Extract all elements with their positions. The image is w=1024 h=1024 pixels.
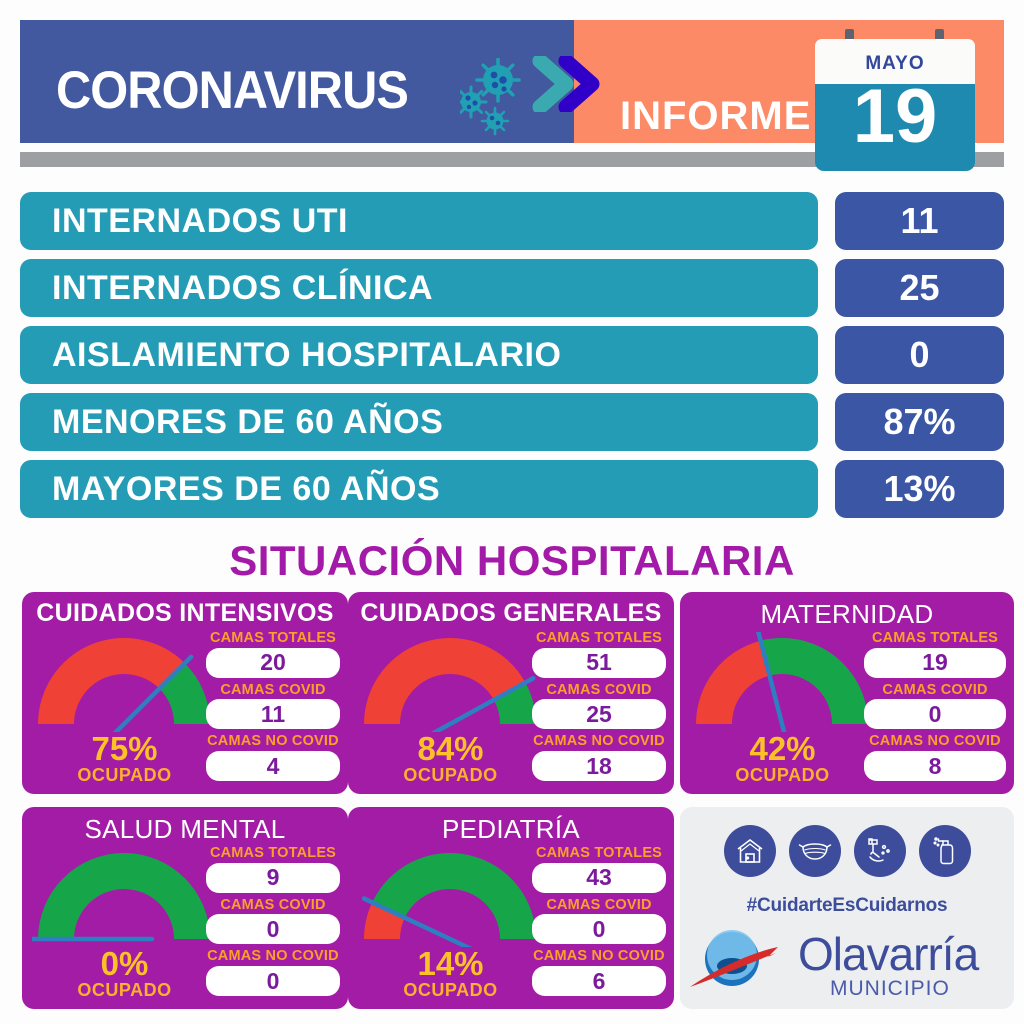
- calendar-day: 19: [815, 79, 975, 155]
- metric-value-totales: 20: [206, 648, 340, 678]
- spray-bottle-icon: [919, 825, 971, 877]
- metric-label-no-covid: CAMAS NO COVID: [206, 733, 340, 750]
- stat-label: INTERNADOS UTI: [20, 192, 818, 250]
- metric-value-covid: 0: [206, 914, 340, 944]
- gauge-percent-caption: OCUPADO: [358, 765, 543, 786]
- face-mask-icon: [789, 825, 841, 877]
- calendar-icon: MAYO 19: [815, 27, 975, 171]
- brand-subtitle: MUNICIPIO: [830, 977, 950, 1001]
- gauge-card-title: CUIDADOS INTENSIVOS: [22, 599, 348, 628]
- metric-value-no-covid: 4: [206, 751, 340, 781]
- gauge-card: CUIDADOS INTENSIVOS 75% OCUPADO CAMAS TO…: [22, 592, 348, 794]
- virus-icon: [460, 58, 540, 138]
- metric-label-covid: CAMAS COVID: [532, 897, 666, 914]
- stat-value: 87%: [835, 393, 1004, 451]
- brand-name: Olavarría: [798, 931, 978, 977]
- metric-label-covid: CAMAS COVID: [206, 682, 340, 699]
- chevron-blue-icon: [558, 56, 602, 117]
- gauge-percent: 75%: [32, 732, 217, 765]
- stat-row: MAYORES DE 60 AÑOS 13%: [20, 460, 1004, 518]
- gauge-percent-caption: OCUPADO: [32, 765, 217, 786]
- metric-label-totales: CAMAS TOTALES: [206, 630, 340, 647]
- metric-label-no-covid: CAMAS NO COVID: [206, 948, 340, 965]
- gauge-percent-caption: OCUPADO: [358, 980, 543, 1001]
- gauge-metrics: CAMAS TOTALES 19 CAMAS COVID 0 CAMAS NO …: [864, 630, 1006, 785]
- gauge-percent-caption: OCUPADO: [690, 765, 875, 786]
- gauge-chart: [32, 847, 217, 947]
- hashtag-slogan: #CuidarteEsCuidarnos: [680, 895, 1014, 917]
- metric-label-no-covid: CAMAS NO COVID: [864, 733, 1006, 750]
- gauge-metrics: CAMAS TOTALES 9 CAMAS COVID 0 CAMAS NO C…: [206, 845, 340, 1000]
- gauge-chart: [690, 632, 875, 732]
- stat-row: INTERNADOS UTI 11: [20, 192, 1004, 250]
- page-title: CORONAVIRUS: [56, 64, 408, 117]
- gauge-card-title: SALUD MENTAL: [22, 814, 348, 845]
- metric-value-totales: 43: [532, 863, 666, 893]
- metric-value-totales: 19: [864, 648, 1006, 678]
- prevention-icon-row: [680, 825, 1014, 877]
- metric-value-no-covid: 8: [864, 751, 1006, 781]
- metric-label-totales: CAMAS TOTALES: [532, 845, 666, 862]
- metric-label-totales: CAMAS TOTALES: [864, 630, 1006, 647]
- metric-value-covid: 11: [206, 699, 340, 729]
- gauge-card: MATERNIDAD 42% OCUPADO CAMAS TOTALES 19 …: [680, 592, 1014, 794]
- olavarria-logo: Olavarría MUNICIPIO: [680, 925, 1014, 1001]
- stat-label: MENORES DE 60 AÑOS: [20, 393, 818, 451]
- gauge-card-title: MATERNIDAD: [680, 599, 1014, 630]
- metric-label-totales: CAMAS TOTALES: [206, 845, 340, 862]
- stat-value: 0: [835, 326, 1004, 384]
- metric-label-no-covid: CAMAS NO COVID: [532, 733, 666, 750]
- metric-value-no-covid: 0: [206, 966, 340, 996]
- gauge-metrics: CAMAS TOTALES 20 CAMAS COVID 11 CAMAS NO…: [206, 630, 340, 785]
- gauge-card: CUIDADOS GENERALES 84% OCUPADO CAMAS TOT…: [348, 592, 674, 794]
- gauge-card: SALUD MENTAL 0% OCUPADO CAMAS TOTALES 9 …: [22, 807, 348, 1009]
- stat-value: 25: [835, 259, 1004, 317]
- gauge-chart: [32, 632, 217, 732]
- infographic-page: CORONAVIRUS INFORME MAYO 19 INTERNADOS U…: [0, 0, 1024, 1024]
- metric-label-no-covid: CAMAS NO COVID: [532, 948, 666, 965]
- gauge-percent: 84%: [358, 732, 543, 765]
- stat-value: 13%: [835, 460, 1004, 518]
- gauge-chart: [358, 847, 543, 947]
- gauge-percent: 0%: [32, 947, 217, 980]
- metric-value-covid: 25: [532, 699, 666, 729]
- gauge-card-title: PEDIATRÍA: [348, 814, 674, 845]
- metric-label-covid: CAMAS COVID: [864, 682, 1006, 699]
- metric-value-totales: 51: [532, 648, 666, 678]
- gauge-percent-caption: OCUPADO: [32, 980, 217, 1001]
- gauge-metrics: CAMAS TOTALES 51 CAMAS COVID 25 CAMAS NO…: [532, 630, 666, 785]
- gauge-metrics: CAMAS TOTALES 43 CAMAS COVID 0 CAMAS NO …: [532, 845, 666, 1000]
- gauge-card: PEDIATRÍA 14% OCUPADO CAMAS TOTALES 43 C…: [348, 807, 674, 1009]
- stat-label: INTERNADOS CLÍNICA: [20, 259, 818, 317]
- calendar-month: MAYO: [815, 53, 975, 75]
- metric-value-no-covid: 6: [532, 966, 666, 996]
- handwash-icon: [854, 825, 906, 877]
- stat-label: MAYORES DE 60 AÑOS: [20, 460, 818, 518]
- metric-value-no-covid: 18: [532, 751, 666, 781]
- branding-panel: #CuidarteEsCuidarnos Olavarría MUNICIPIO: [680, 807, 1014, 1009]
- stat-row: AISLAMIENTO HOSPITALARIO 0: [20, 326, 1004, 384]
- gauge-percent: 14%: [358, 947, 543, 980]
- stat-value: 11: [835, 192, 1004, 250]
- report-label: INFORME: [620, 96, 811, 136]
- stat-row: MENORES DE 60 AÑOS 87%: [20, 393, 1004, 451]
- metric-value-covid: 0: [532, 914, 666, 944]
- house-icon: [724, 825, 776, 877]
- metric-label-totales: CAMAS TOTALES: [532, 630, 666, 647]
- stat-row: INTERNADOS CLÍNICA 25: [20, 259, 1004, 317]
- gauge-chart: [358, 632, 543, 732]
- metric-value-totales: 9: [206, 863, 340, 893]
- section-title: SITUACIÓN HOSPITALARIA: [0, 537, 1024, 585]
- metric-value-covid: 0: [864, 699, 1006, 729]
- stats-list: INTERNADOS UTI 11 INTERNADOS CLÍNICA 25 …: [20, 192, 1004, 527]
- metric-label-covid: CAMAS COVID: [532, 682, 666, 699]
- metric-label-covid: CAMAS COVID: [206, 897, 340, 914]
- gauge-percent: 42%: [690, 732, 875, 765]
- logo-mark-icon: [680, 925, 800, 1001]
- stat-label: AISLAMIENTO HOSPITALARIO: [20, 326, 818, 384]
- gauge-card-title: CUIDADOS GENERALES: [348, 599, 674, 628]
